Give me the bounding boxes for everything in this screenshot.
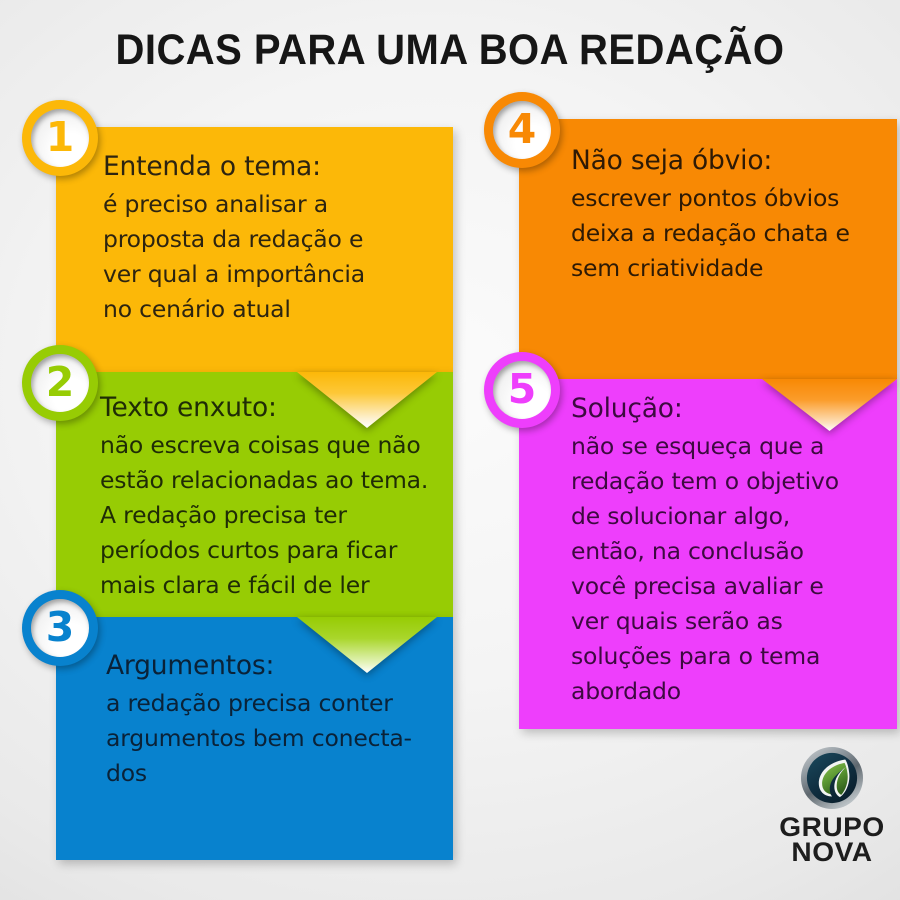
- step-badge-1: 1: [22, 100, 98, 176]
- step-badge-3-number: 3: [46, 607, 75, 648]
- tip-card-5-body: não se esqueça que a redação tem o objet…: [571, 432, 839, 705]
- tip-card-2-body: não escreva coisas que não estão relacio…: [100, 431, 428, 599]
- tip-card-1-heading: Entenda o tema:: [103, 147, 365, 187]
- step-badge-5-number: 5: [508, 369, 537, 410]
- ribbon-fold-icon-2: [297, 617, 437, 673]
- step-badge-2-disc: 2: [31, 354, 89, 412]
- tip-card-4: Não seja óbvio:escrever pontos óbvios de…: [519, 119, 897, 379]
- brand-logo: GRUPO NOVA: [776, 745, 888, 867]
- step-badge-4-number: 4: [508, 109, 537, 150]
- ribbon-fold-icon-3: [762, 379, 897, 431]
- tip-card-4-body: escrever pontos óbvios deixa a redação c…: [571, 184, 850, 282]
- leaf-circle-emblem-icon: [799, 745, 865, 811]
- step-badge-3-disc: 3: [31, 599, 89, 657]
- step-badge-5: 5: [484, 352, 560, 428]
- step-badge-5-disc: 5: [493, 361, 551, 419]
- step-badge-2: 2: [22, 345, 98, 421]
- ribbon-fold-icon-1: [297, 372, 437, 428]
- step-badge-4: 4: [484, 92, 560, 168]
- tip-card-4-heading: Não seja óbvio:: [571, 141, 850, 181]
- tip-card-1: Entenda o tema:é preciso analisar a prop…: [56, 127, 453, 372]
- step-badge-1-number: 1: [46, 117, 75, 158]
- tip-card-3-body: a redação precisa conter argumentos bem …: [106, 689, 412, 787]
- tip-card-5-text: Solução:não se esqueça que a redação tem…: [571, 389, 839, 709]
- infographic-poster: DICAS PARA UMA BOA REDAÇÃO Entenda o tem…: [0, 0, 900, 900]
- step-badge-1-disc: 1: [31, 109, 89, 167]
- page-title: DICAS PARA UMA BOA REDAÇÃO: [32, 26, 869, 75]
- tip-card-5: Solução:não se esqueça que a redação tem…: [519, 379, 897, 729]
- tip-card-4-text: Não seja óbvio:escrever pontos óbvios de…: [571, 141, 850, 286]
- tip-card-1-text: Entenda o tema:é preciso analisar a prop…: [103, 147, 365, 327]
- brand-logo-line2: NOVA: [774, 840, 890, 865]
- tip-card-1-body: é preciso analisar a proposta da redação…: [103, 190, 365, 323]
- step-badge-3: 3: [22, 590, 98, 666]
- step-badge-4-disc: 4: [493, 101, 551, 159]
- step-badge-2-number: 2: [46, 362, 75, 403]
